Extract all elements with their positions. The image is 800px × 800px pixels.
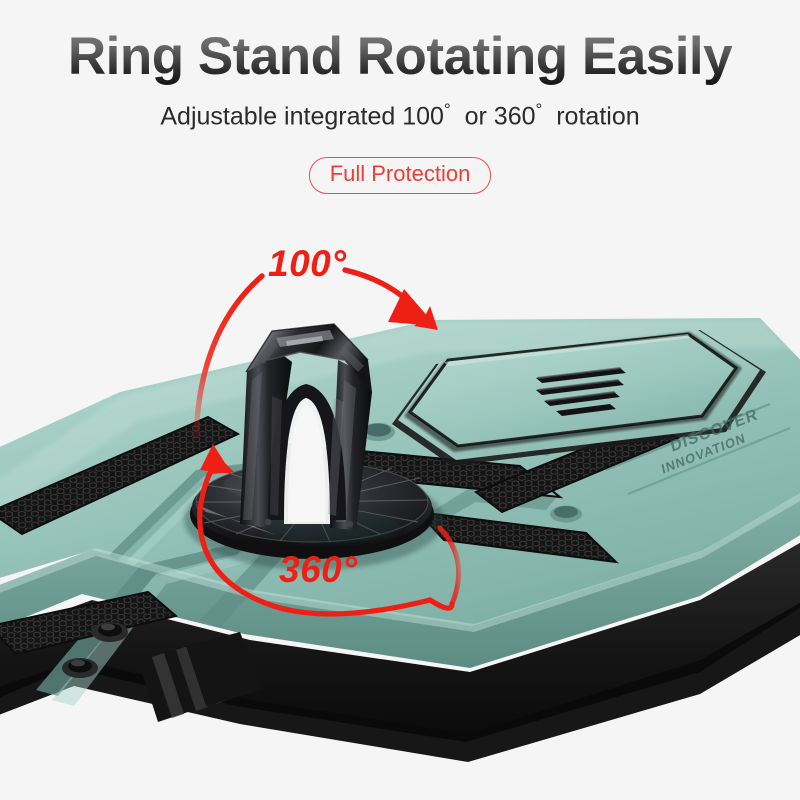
degree-symbol-360: ° xyxy=(536,100,543,119)
subtitle-middle: or 360 xyxy=(465,102,536,130)
page-title: Ring Stand Rotating Easily xyxy=(0,26,800,87)
subtitle-before: Adjustable integrated 100 xyxy=(160,102,444,130)
full-protection-badge: Full Protection xyxy=(309,157,492,194)
subtitle-after: rotation xyxy=(556,102,639,130)
degree-symbol-100: ° xyxy=(444,100,451,119)
page-subtitle: Adjustable integrated 100° or 360° rotat… xyxy=(0,100,800,131)
annotation-label-360: 360° xyxy=(279,549,358,591)
product-marketing-canvas: DISCOVER INNOVATION xyxy=(0,0,800,800)
annotation-label-100: 100° xyxy=(268,243,347,285)
badge-container: Full Protection xyxy=(0,157,800,194)
